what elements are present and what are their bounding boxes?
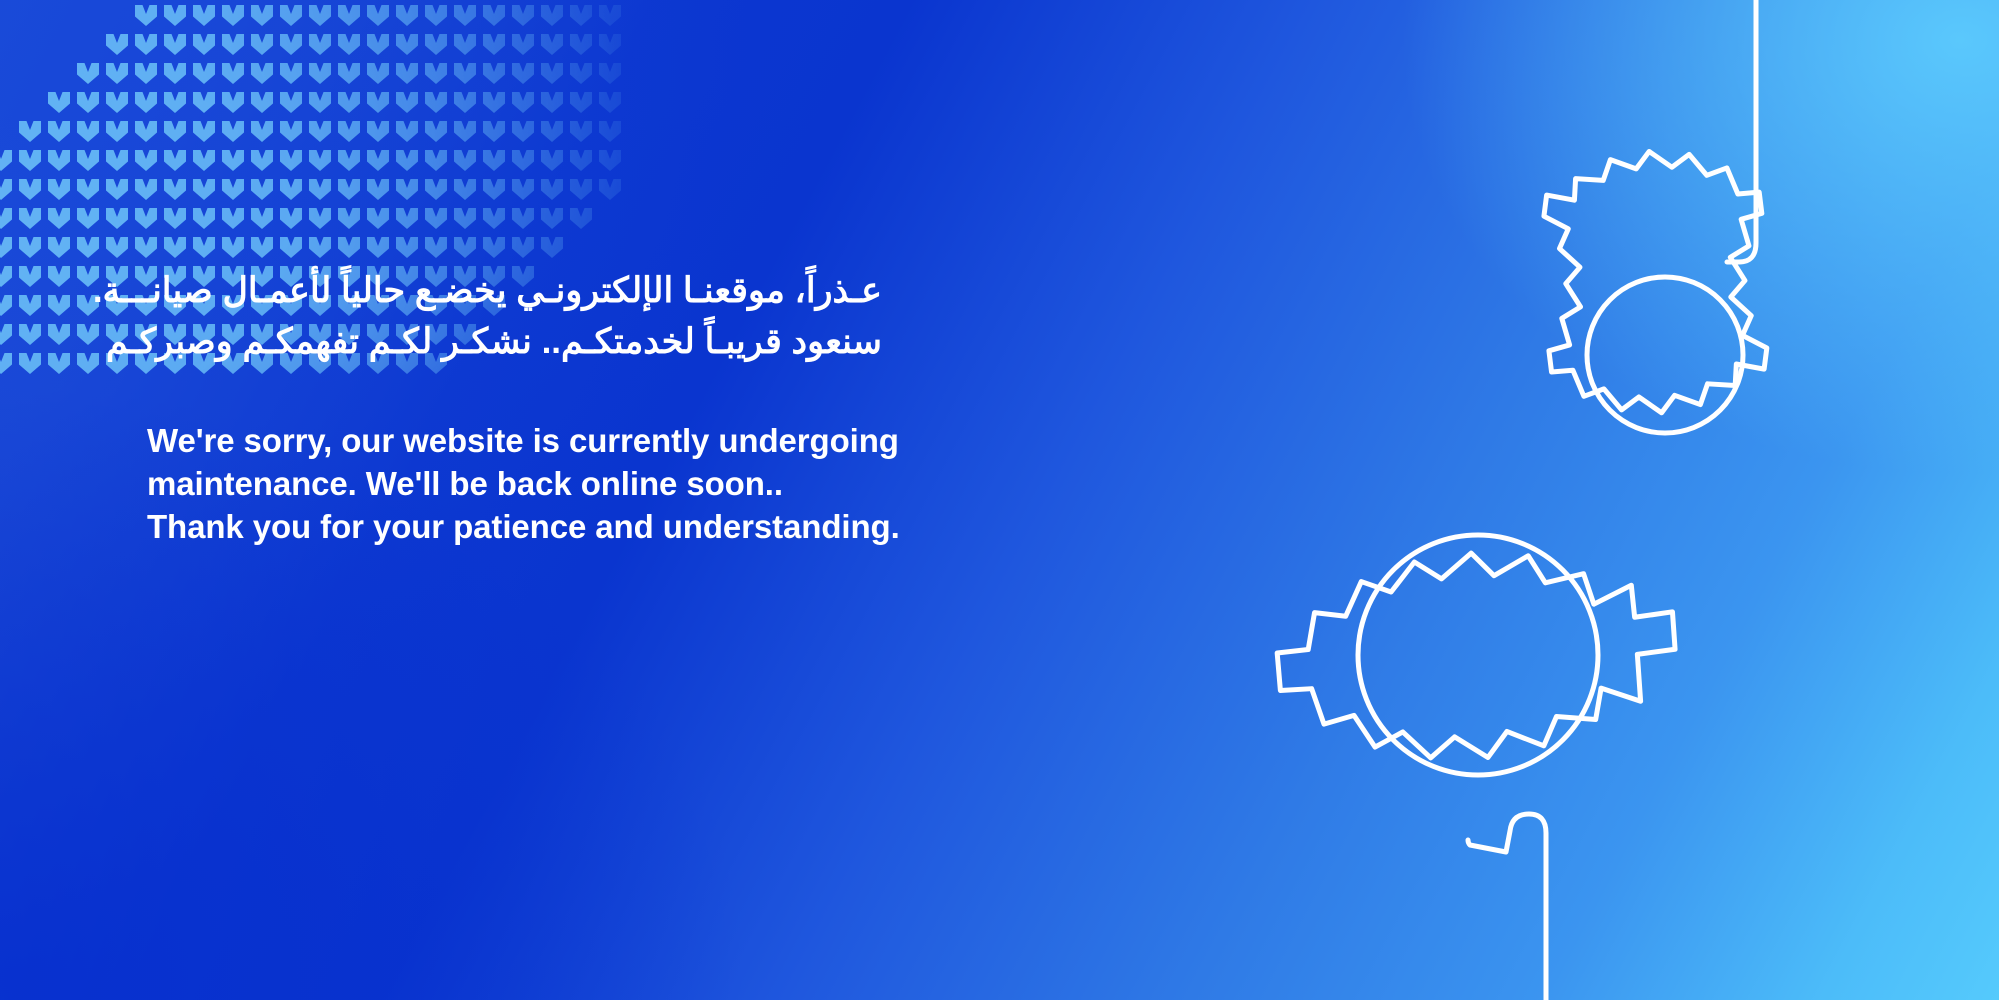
maintenance-message-block: عـذراً، موقعنـا الإلكترونـي يخضـع حالياً…: [147, 265, 1167, 548]
arabic-message: عـذراً، موقعنـا الإلكترونـي يخضـع حالياً…: [147, 265, 882, 367]
english-message-line-1: We're sorry, our website is currently un…: [147, 419, 1167, 462]
maintenance-page: عـذراً، موقعنـا الإلكترونـي يخضـع حالياً…: [0, 0, 1999, 1000]
arabic-message-line-2: سنعود قريبـاً لخدمتكـم.. نشكـر لكـم تفهم…: [147, 316, 882, 367]
gear-small-icon: [1529, 140, 1781, 433]
connector-line-top: [1727, 0, 1756, 262]
arabic-message-line-1: عـذراً، موقعنـا الإلكترونـي يخضـع حالياً…: [147, 265, 882, 316]
connector-line-bottom: [1468, 814, 1546, 1000]
english-message-line-2: maintenance. We'll be back online soon..: [147, 462, 1167, 505]
gear-large-icon: [1271, 535, 1682, 775]
english-message-line-3: Thank you for your patience and understa…: [147, 505, 1167, 548]
english-message: We're sorry, our website is currently un…: [147, 419, 1167, 548]
